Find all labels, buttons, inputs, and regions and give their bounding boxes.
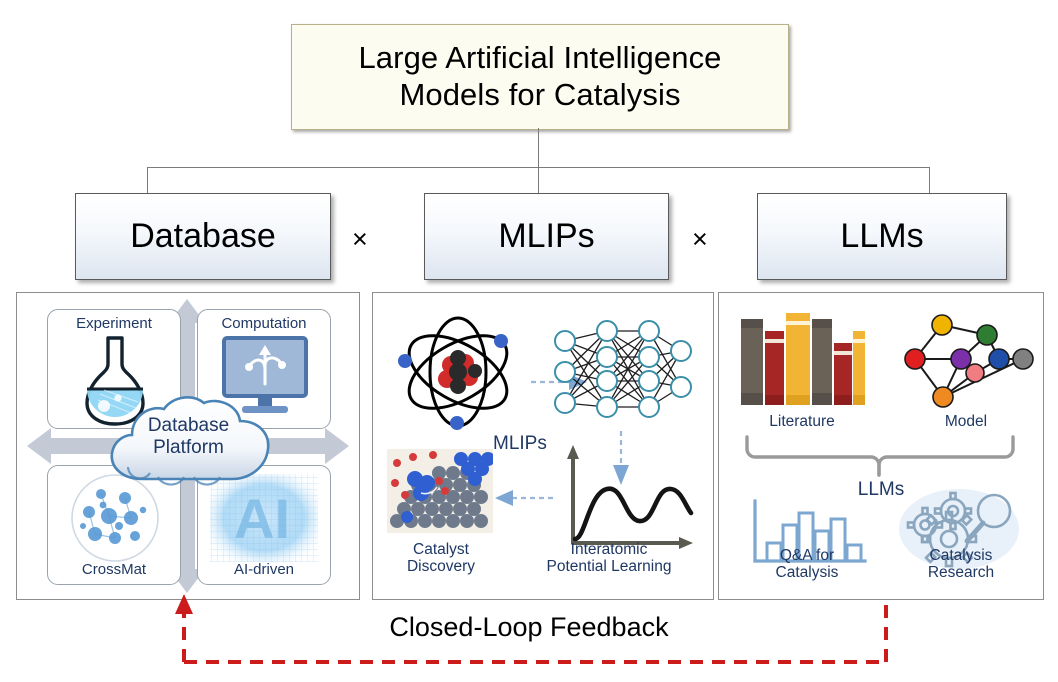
operator-times-1: ×: [352, 224, 368, 255]
atom-icon[interactable]: [391, 311, 525, 433]
title-line-1: Large Artificial Intelligence: [358, 40, 721, 77]
category-header-database[interactable]: Database: [75, 193, 331, 280]
caption-literature: Literature: [727, 413, 877, 430]
category-label-database: Database: [130, 217, 276, 256]
brace-icon: [741, 433, 1019, 479]
arrow-potential-to-catalyst-icon: [491, 489, 553, 507]
caption-catalysis-research: Catalysis Research: [885, 547, 1037, 582]
caption-catalyst-line-1: Catalyst: [381, 541, 501, 558]
caption-model: Model: [911, 413, 1021, 430]
caption-catalyst-discovery: Catalyst Discovery: [381, 541, 501, 576]
caption-research-line-1: Catalysis: [885, 547, 1037, 564]
panel-mlips: MLIPs: [372, 292, 714, 600]
connector-trunk: [538, 128, 539, 168]
page-title: Large Artificial Intelligence Models for…: [291, 24, 789, 130]
title-line-2: Models for Catalysis: [358, 77, 721, 114]
catalyst-surface-icon[interactable]: [387, 449, 493, 533]
category-label-mlips: MLIPs: [498, 217, 594, 256]
cloud-label: Database Platform: [98, 415, 279, 460]
card-label-computation: Computation: [198, 315, 330, 332]
connector-drop-database: [147, 167, 148, 193]
caption-qa-catalysis: Q&A for Catalysis: [727, 547, 887, 582]
caption-interatomic-potential: Interatomic Potential Learning: [513, 541, 705, 576]
feedback-label: Closed-Loop Feedback: [0, 612, 1058, 643]
potential-curve-icon[interactable]: [559, 443, 699, 555]
cloud-label-line-1: Database: [98, 415, 279, 437]
cloud-label-line-2: Platform: [98, 437, 279, 459]
caption-qa-line-2: Catalysis: [727, 564, 887, 581]
diagram-canvas: Large Artificial Intelligence Models for…: [0, 0, 1058, 682]
operator-times-2: ×: [692, 224, 708, 255]
card-label-experiment: Experiment: [48, 315, 180, 332]
books-icon[interactable]: [737, 309, 867, 409]
category-header-mlips[interactable]: MLIPs: [424, 193, 669, 280]
neural-network-icon[interactable]: [545, 319, 695, 425]
caption-qa-line-1: Q&A for: [727, 547, 887, 564]
connector-drop-llms: [929, 167, 930, 193]
category-label-llms: LLMs: [840, 217, 923, 256]
caption-research-line-2: Research: [885, 564, 1037, 581]
mlips-center-label: MLIPs: [493, 433, 547, 455]
category-header-llms[interactable]: LLMs: [757, 193, 1007, 280]
panel-llms: Literature Model LLMs: [718, 292, 1044, 600]
caption-potential-line-1: Interatomic: [513, 541, 705, 558]
graph-network-icon[interactable]: [895, 309, 1035, 413]
connector-drop-mlips: [538, 167, 539, 193]
caption-potential-line-2: Potential Learning: [513, 558, 705, 575]
caption-catalyst-line-2: Discovery: [381, 558, 501, 575]
panel-database: Experiment Computation: [16, 292, 360, 600]
